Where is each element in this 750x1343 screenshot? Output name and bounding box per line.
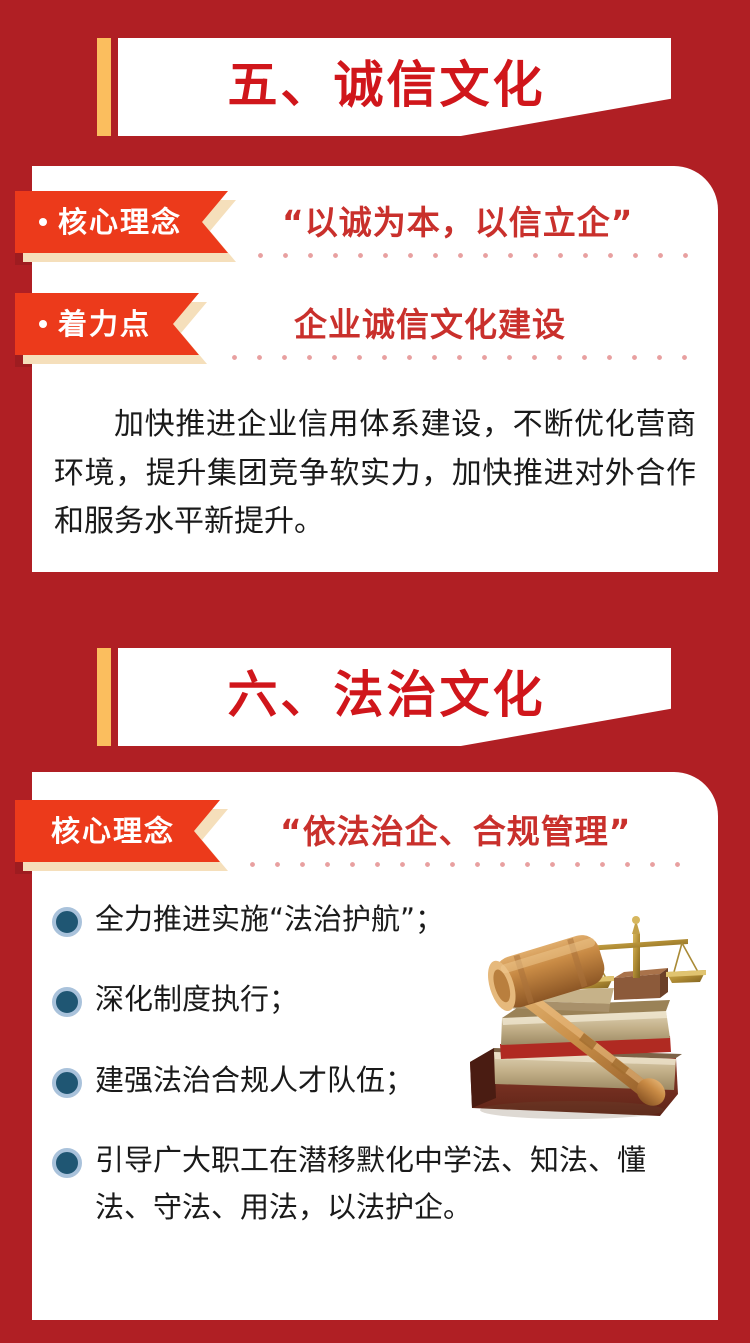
info-row: 着力点 企业诚信文化建设: [32, 293, 718, 355]
dotted-separator: [240, 862, 694, 867]
bullet-dot-icon: [39, 320, 47, 328]
page-title: 六、法治文化: [228, 670, 546, 720]
dotted-separator: [222, 355, 694, 360]
ribbon-body: 着力点: [15, 293, 199, 355]
list-bullet-icon: [52, 987, 82, 1017]
list-item: 深化制度执行；: [52, 976, 472, 1022]
list-bullet-icon: [52, 907, 82, 937]
title-gap: [111, 648, 118, 746]
list-item-label: 建强法治合规人才队伍；: [95, 1057, 472, 1103]
list-bullet-icon: [52, 1148, 82, 1178]
bullet-list: 全力推进实施“法治护航”； 深化制度执行； 建强法治合规人才队伍； 引导广大职工…: [52, 896, 700, 1230]
ribbon-label: 着力点: [58, 310, 151, 339]
poster-canvas: 五、诚信文化 核心理念 “以诚为本，以信立企”: [0, 0, 750, 1343]
section-paragraph: 加快推进企业信用体系建设，不断优化营商环境，提升集团竞争软实力，加快推进对外合作…: [54, 401, 696, 547]
section-title-bar-rule-of-law: 六、法治文化: [97, 648, 671, 746]
title-panel: 六、法治文化: [118, 648, 671, 746]
ribbon-body: 核心理念: [15, 800, 220, 862]
title-panel: 五、诚信文化: [118, 38, 671, 136]
list-item: 建强法治合规人才队伍；: [52, 1057, 472, 1103]
list-item-label: 深化制度执行；: [95, 976, 472, 1022]
ribbon-label: 核心理念: [58, 208, 182, 237]
ribbon-body: 核心理念: [15, 191, 228, 253]
title-gap: [111, 38, 118, 136]
list-bullet-icon: [52, 1068, 82, 1098]
section-card-rule-of-law: 核心理念 “依法治企、合规管理” 全力推进实施“法治护航”； 深化制度执行； 建…: [32, 772, 718, 1320]
title-accent-bar: [97, 38, 111, 136]
dotted-separator: [248, 253, 694, 258]
page-title: 五、诚信文化: [228, 60, 546, 110]
info-row-value: “以诚为本，以信立企”: [282, 191, 633, 253]
ribbon-core-concept: 核心理念: [15, 800, 220, 862]
bullet-dot-icon: [39, 218, 47, 226]
info-row-value: 企业诚信文化建设: [294, 293, 566, 355]
section-card-integrity: 核心理念 “以诚为本，以信立企” 着力点 企业诚信文化建设 加快推进企业信用体系…: [32, 166, 718, 572]
info-row: 核心理念 “依法治企、合规管理”: [32, 800, 718, 862]
list-item: 引导广大职工在潜移默化中学法、知法、懂法、守法、用法，以法护企。: [52, 1137, 700, 1230]
ribbon-core-concept: 核心理念: [15, 191, 228, 253]
section-title-bar-integrity: 五、诚信文化: [97, 38, 671, 136]
ribbon-focus-point: 着力点: [15, 293, 199, 355]
list-item: 全力推进实施“法治护航”；: [52, 896, 472, 942]
ribbon-label: 核心理念: [51, 817, 175, 846]
list-item-label: 全力推进实施“法治护航”；: [95, 896, 472, 942]
info-row-value: “依法治企、合规管理”: [280, 800, 631, 862]
info-row: 核心理念 “以诚为本，以信立企”: [32, 191, 718, 253]
list-item-label: 引导广大职工在潜移默化中学法、知法、懂法、守法、用法，以法护企。: [95, 1137, 700, 1230]
title-accent-bar: [97, 648, 111, 746]
